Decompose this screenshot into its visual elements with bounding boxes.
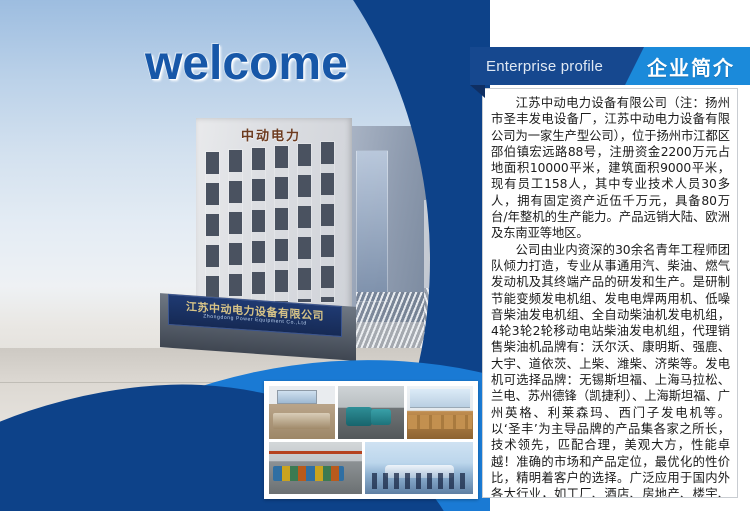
welcome-heading: welcome [145, 36, 348, 91]
company-profile-banner: 中动电力 江苏中动电力设备有限公司 Zhongdong Power Equipm… [0, 0, 750, 511]
section-title-en: Enterprise profile [470, 47, 625, 85]
conference-room-photo [365, 442, 473, 495]
hero-photo-area: 中动电力 江苏中动电力设备有限公司 Zhongdong Power Equipm… [0, 0, 490, 511]
profile-paragraph-2: 公司由业内资深的30余名青年工程师团队倾力打造，专业从事通用汽、柴油、燃气发动机… [491, 242, 730, 498]
collage-row-bottom [269, 442, 473, 495]
profile-textbox: 江苏中动电力设备有限公司（注：扬州市圣丰发电设备厂，江苏中动电力设备有限公司为一… [482, 88, 738, 498]
collage-row-top [269, 386, 473, 439]
photo-collage [264, 381, 478, 499]
section-ribbon: Enterprise profile 企业简介 [470, 47, 750, 85]
office-counter-photo [407, 386, 473, 439]
generator-warehouse-photo [269, 442, 362, 495]
profile-panel: Enterprise profile 企业简介 江苏中动电力设备有限公司（注：扬… [470, 0, 750, 511]
generator-workshop-photo [338, 386, 404, 439]
ribbon-fold-corner [470, 85, 485, 98]
office-meeting-photo [269, 386, 335, 439]
profile-paragraph-1: 江苏中动电力设备有限公司（注：扬州市圣丰发电设备厂，江苏中动电力设备有限公司为一… [491, 95, 730, 242]
